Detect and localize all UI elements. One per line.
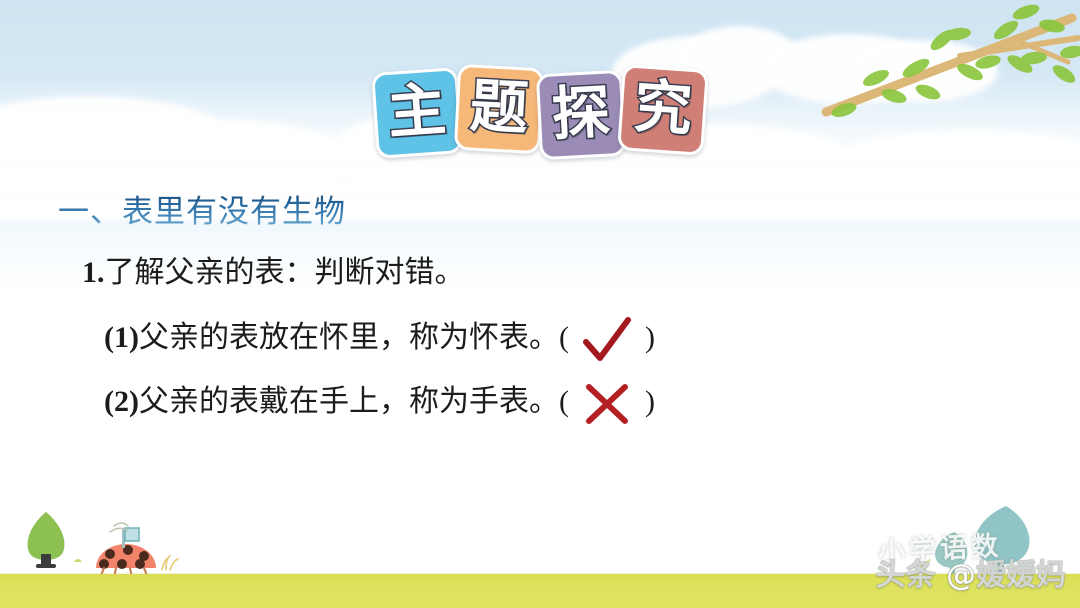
title-tile-char: 究 bbox=[632, 77, 694, 139]
question-intro: 1.了解父亲的表：判断对错。 bbox=[82, 247, 465, 291]
title-tile-4: 究 bbox=[617, 64, 709, 156]
judgement-item-2: (2)父亲的表戴在手上，称为手表。() bbox=[104, 376, 655, 427]
watermark-prefix: 头条 bbox=[876, 558, 946, 593]
title-tile-char: 题 bbox=[469, 77, 530, 138]
watermark-handle: @嫒嫒妈 bbox=[946, 558, 1066, 593]
item-text: 父亲的表戴在手上，称为手表。 bbox=[139, 385, 559, 418]
question-intro-number: 1. bbox=[82, 256, 105, 289]
answer-mark-slot[interactable] bbox=[569, 317, 645, 363]
item-label: (1) bbox=[104, 321, 139, 354]
item-close-paren: ) bbox=[645, 385, 655, 419]
item-close-paren: ) bbox=[645, 321, 655, 355]
question-intro-text: 了解父亲的表：判断对错。 bbox=[105, 256, 465, 289]
slide-canvas: 主 题 探 究 一、表里有没有生物 1.了解父亲的表：判断对错。 (1)父亲的表… bbox=[0, 0, 1080, 608]
slide-title: 主 题 探 究 bbox=[374, 64, 702, 158]
title-tile-char: 探 bbox=[550, 83, 611, 144]
section-heading: 一、表里有没有生物 bbox=[58, 186, 346, 231]
item-label: (2) bbox=[104, 385, 139, 418]
item-open-paren: ( bbox=[559, 321, 569, 355]
item-text: 父亲的表放在怀里，称为怀表。 bbox=[139, 321, 559, 354]
item-open-paren: ( bbox=[559, 385, 569, 419]
title-tile-3: 探 bbox=[536, 70, 626, 160]
title-tile-2: 题 bbox=[454, 64, 544, 154]
title-tile-char: 主 bbox=[386, 80, 448, 142]
judgement-item-1: (1)父亲的表放在怀里，称为怀表。() bbox=[104, 312, 655, 363]
title-tile-1: 主 bbox=[371, 67, 463, 159]
cross-icon bbox=[582, 381, 632, 427]
check-icon bbox=[581, 317, 633, 363]
answer-mark-slot[interactable] bbox=[569, 381, 645, 427]
watermark-main: 头条 @嫒嫒妈 bbox=[876, 550, 1066, 594]
